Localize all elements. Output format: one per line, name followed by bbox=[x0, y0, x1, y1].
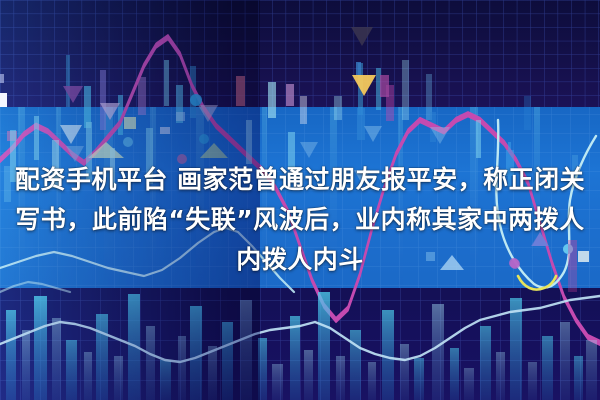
background-band-top bbox=[0, 0, 600, 107]
background-band-bottom bbox=[0, 288, 600, 400]
left-edge-tick-marker bbox=[0, 93, 7, 107]
headline-text: 配资手机平台 画家范曾通过朋友报平安，称正闭关写书，此前陷“失联”风波后，业内称… bbox=[0, 160, 600, 280]
news-thumbnail-image: 配资手机平台 画家范曾通过朋友报平安，称正闭关写书，此前陷“失联”风波后，业内称… bbox=[0, 0, 600, 400]
left-edge-tick-marker-small bbox=[0, 74, 4, 83]
